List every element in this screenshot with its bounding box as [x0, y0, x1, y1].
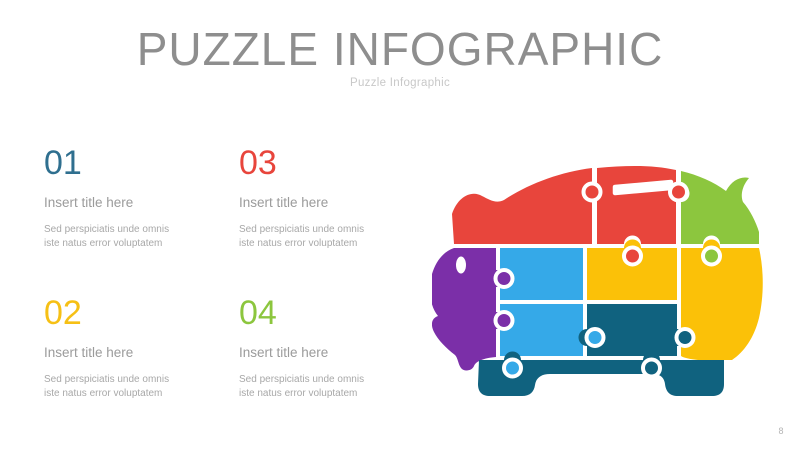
info-item-04-title: Insert title here — [239, 346, 419, 360]
info-item-01-description: Sed perspiciatis unde omnis iste natus e… — [44, 223, 224, 252]
puzzle-knob-legs-left — [504, 360, 521, 377]
info-item-02-description-line1: Sed perspiciatis unde omnis — [44, 373, 224, 388]
puzzle-piece-back-top[interactable] — [589, 166, 685, 244]
info-item-03-title: Insert title here — [239, 196, 419, 210]
puzzle-knob-back-tail — [670, 184, 687, 201]
info-item-03-number: 03 — [239, 146, 419, 180]
puzzle-knob-tail-rear — [703, 248, 720, 265]
puzzle-piece-head-back[interactable] — [452, 168, 592, 244]
info-item-04-description-line2: iste natus error voluptatem — [239, 387, 419, 402]
puzzle-piece-tail[interactable] — [681, 171, 759, 244]
info-item-02: 02 Insert title here Sed perspiciatis un… — [44, 296, 224, 402]
page-title: PUZZLE INFOGRAPHIC — [0, 24, 800, 75]
slide-canvas: PUZZLE INFOGRAPHIC Puzzle Infographic 01… — [0, 0, 800, 450]
info-item-03-description-line2: iste natus error voluptatem — [239, 237, 419, 252]
puzzle-knob-body-lower-center — [587, 329, 604, 346]
page-subtitle: Puzzle Infographic — [0, 77, 800, 89]
info-item-02-description-line2: iste natus error voluptatem — [44, 387, 224, 402]
puzzle-knob-head-back — [584, 184, 601, 201]
info-item-01-title: Insert title here — [44, 196, 224, 210]
puzzle-knob-back-body — [624, 248, 641, 265]
info-item-03-description-line1: Sed perspiciatis unde omnis — [239, 223, 419, 238]
info-item-01-number: 01 — [44, 146, 224, 180]
puzzle-knob-body-rear — [677, 329, 694, 346]
puzzle-knob-legs-right — [643, 360, 660, 377]
puzzle-knob-snout-body-lower — [496, 312, 513, 329]
puzzle-piece-body-lower-left[interactable] — [500, 304, 583, 356]
piggy-bank-puzzle-graphic — [432, 152, 782, 402]
nostril-icon — [456, 257, 466, 274]
puzzle-knob-snout-body-upper — [496, 270, 513, 287]
info-item-02-title: Insert title here — [44, 346, 224, 360]
info-item-02-description: Sed perspiciatis unde omnis iste natus e… — [44, 373, 224, 402]
info-item-03: 03 Insert title here Sed perspiciatis un… — [239, 146, 419, 252]
info-item-01-description-line1: Sed perspiciatis unde omnis — [44, 223, 224, 238]
info-item-03-description: Sed perspiciatis unde omnis iste natus e… — [239, 223, 419, 252]
info-item-04: 04 Insert title here Sed perspiciatis un… — [239, 296, 419, 402]
info-item-01-description-line2: iste natus error voluptatem — [44, 237, 224, 252]
info-item-04-description: Sed perspiciatis unde omnis iste natus e… — [239, 373, 419, 402]
info-item-04-description-line1: Sed perspiciatis unde omnis — [239, 373, 419, 388]
info-item-04-number: 04 — [239, 296, 419, 330]
info-item-02-number: 02 — [44, 296, 224, 330]
page-number: 8 — [778, 426, 784, 436]
puzzle-piece-snout[interactable] — [432, 248, 505, 370]
info-item-01: 01 Insert title here Sed perspiciatis un… — [44, 146, 224, 252]
